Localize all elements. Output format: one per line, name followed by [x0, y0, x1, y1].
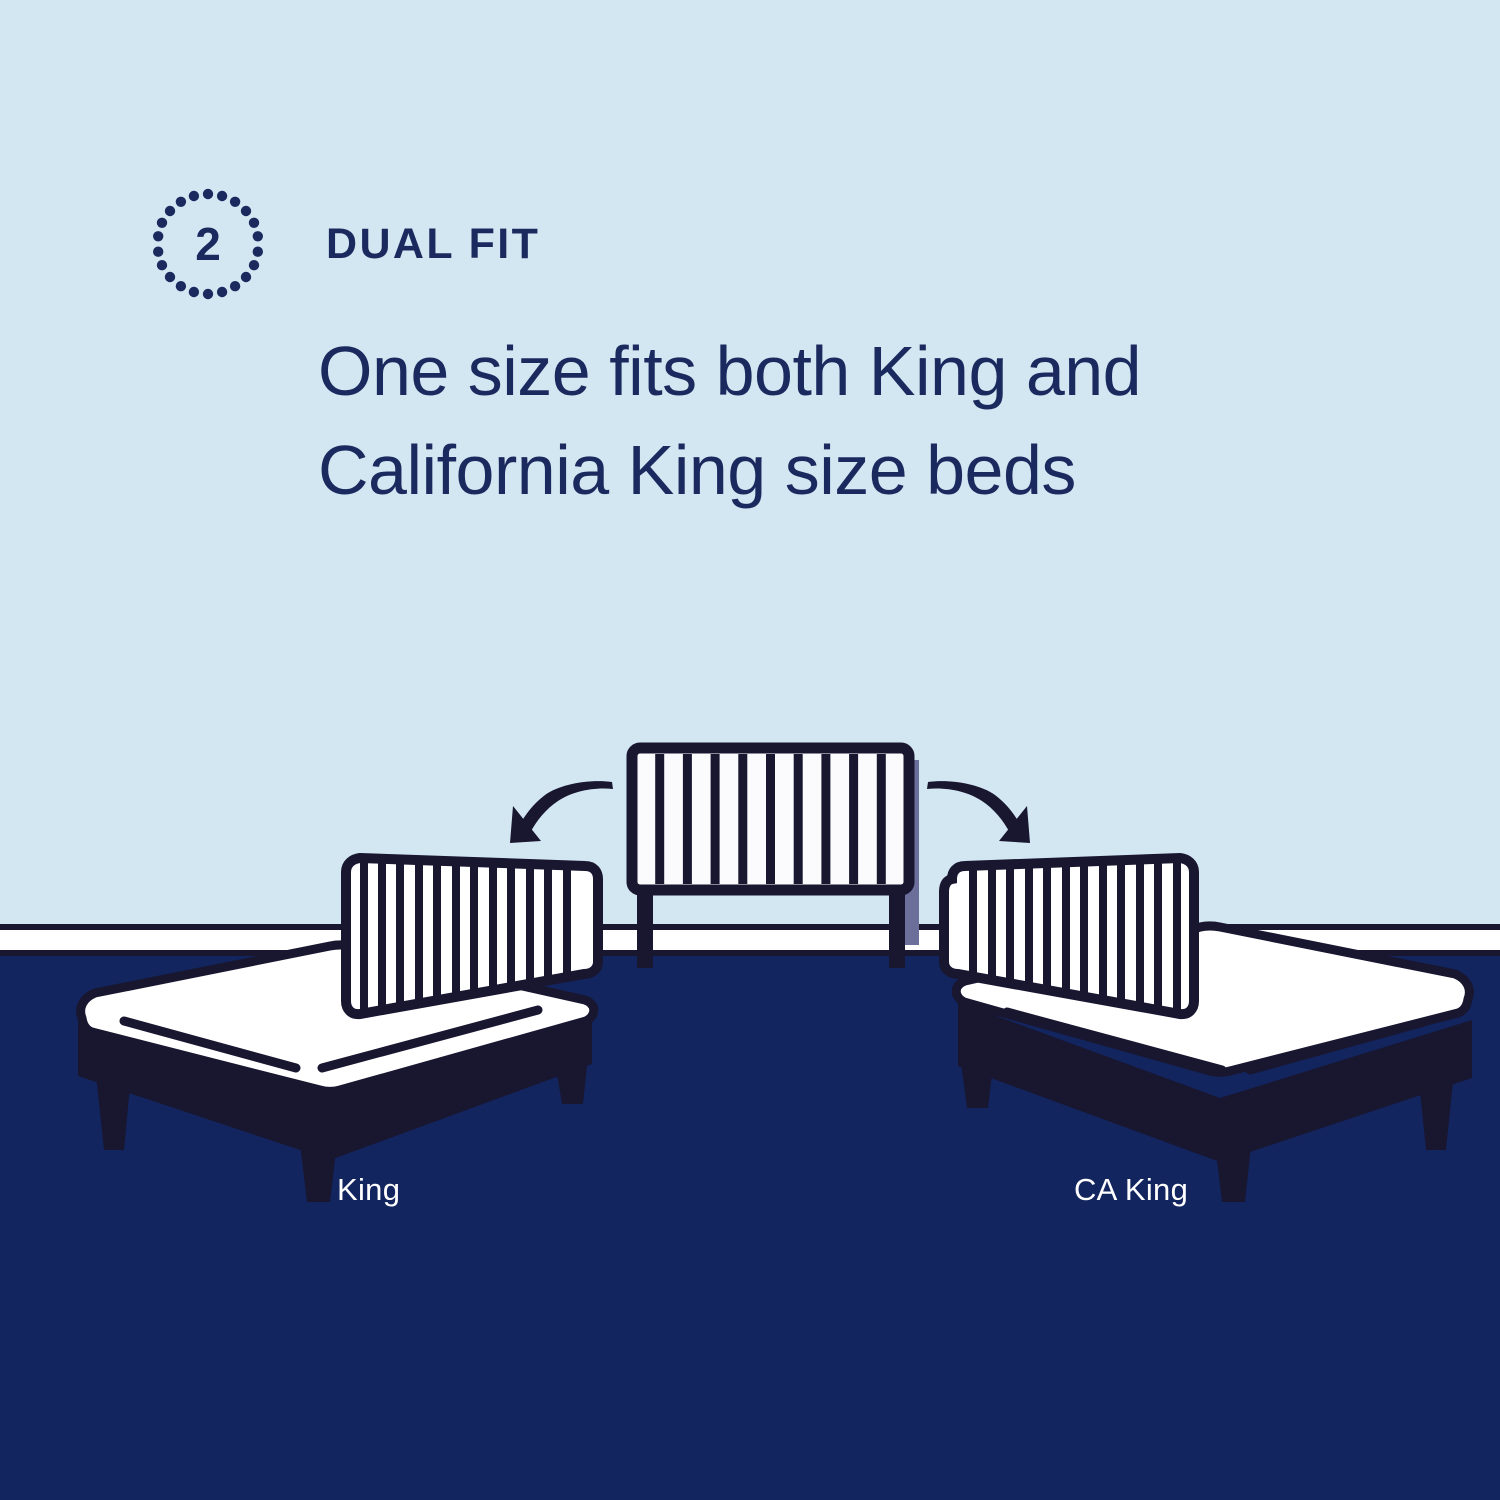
- step-row: 2 DUAL FIT: [152, 188, 540, 300]
- bed-label-king: King: [337, 1172, 400, 1208]
- floor-background: [0, 956, 1500, 1500]
- step-badge: 2: [152, 188, 264, 300]
- headline-line-1: One size fits both King and: [318, 332, 1141, 410]
- page-title: One size fits both King and California K…: [318, 322, 1398, 521]
- headline-line-2: California King size beds: [318, 421, 1398, 520]
- step-number: 2: [152, 188, 264, 300]
- bed-label-ca-king: CA King: [1074, 1172, 1188, 1208]
- step-label: DUAL FIT: [326, 220, 540, 269]
- promo-graphic: 2 DUAL FIT One size fits both King and C…: [0, 0, 1500, 1500]
- baseboard: [0, 930, 1500, 950]
